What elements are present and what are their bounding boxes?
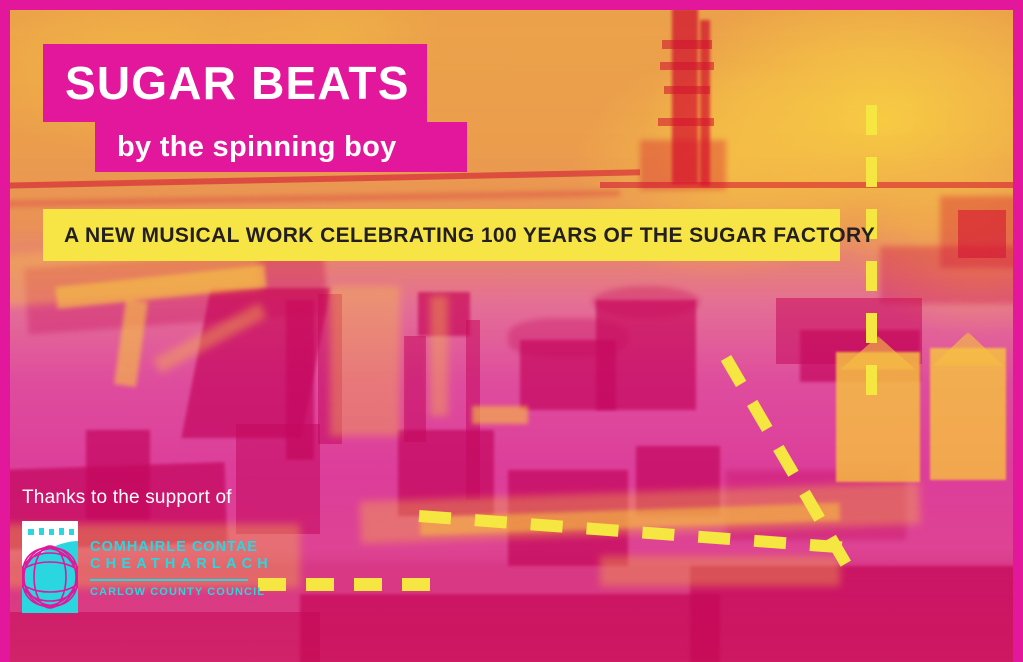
tagline-banner: A NEW MUSICAL WORK CELEBRATING 100 YEARS… bbox=[43, 209, 840, 261]
dashed-line-vertical bbox=[866, 105, 877, 403]
dashed-line-horizontal bbox=[258, 578, 430, 591]
carlow-castle-logo-icon bbox=[22, 521, 78, 613]
support-label: Thanks to the support of bbox=[22, 488, 273, 507]
sponsor-logo: COMHAIRLE CONTAE CHEATHARLACH CARLOW COU… bbox=[22, 521, 273, 613]
sponsor-name-irish-line2: CHEATHARLACH bbox=[90, 556, 273, 573]
border-left bbox=[0, 0, 10, 662]
title-main-banner: SUGAR BEATS bbox=[43, 44, 427, 122]
sponsor-name-irish-line1: COMHAIRLE CONTAE bbox=[90, 539, 273, 556]
poster-canvas: SUGAR BEATS by the spinning boy A NEW MU… bbox=[0, 0, 1023, 662]
border-right bbox=[1013, 0, 1023, 662]
sponsor-divider bbox=[90, 579, 248, 581]
page-subtitle: by the spinning boy bbox=[117, 133, 397, 162]
title-block: SUGAR BEATS by the spinning boy bbox=[43, 44, 467, 172]
sponsor-logo-text: COMHAIRLE CONTAE CHEATHARLACH CARLOW COU… bbox=[90, 539, 273, 598]
support-block: Thanks to the support of bbox=[22, 488, 273, 613]
tagline-text: A NEW MUSICAL WORK CELEBRATING 100 YEARS… bbox=[64, 225, 875, 246]
border-top bbox=[0, 0, 1023, 10]
page-title: SUGAR BEATS bbox=[65, 60, 410, 106]
title-sub-banner: by the spinning boy bbox=[95, 122, 467, 172]
dashed-line-sloped bbox=[415, 486, 855, 552]
sponsor-name-english: CARLOW COUNTY COUNCIL bbox=[90, 587, 273, 598]
